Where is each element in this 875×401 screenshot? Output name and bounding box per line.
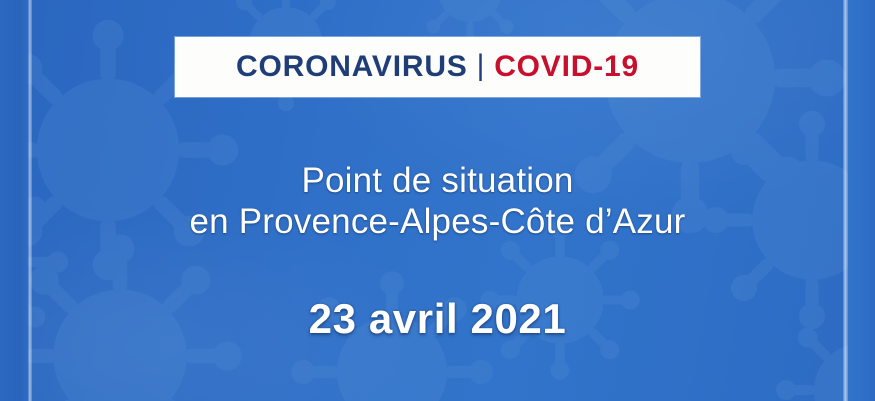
badge-text-group: CORONAVIRUS|COVID-19 xyxy=(236,52,639,82)
headline-line-1: Point de situation xyxy=(0,160,875,201)
covid-situation-slide: CORONAVIRUS|COVID-19 Point de situation … xyxy=(0,0,875,401)
coronavirus-covid19-badge: CORONAVIRUS|COVID-19 xyxy=(175,37,700,97)
headline-line-2: en Provence-Alpes-Côte d’Azur xyxy=(0,201,875,242)
badge-coronavirus-label: CORONAVIRUS xyxy=(236,50,468,83)
badge-covid19-label: COVID-19 xyxy=(494,50,639,83)
slide-date: 23 avril 2021 xyxy=(0,296,875,342)
slide-headline: Point de situation en Provence-Alpes-Côt… xyxy=(0,160,875,243)
slide-content: CORONAVIRUS|COVID-19 Point de situation … xyxy=(0,0,875,401)
badge-separator: | xyxy=(468,49,495,82)
